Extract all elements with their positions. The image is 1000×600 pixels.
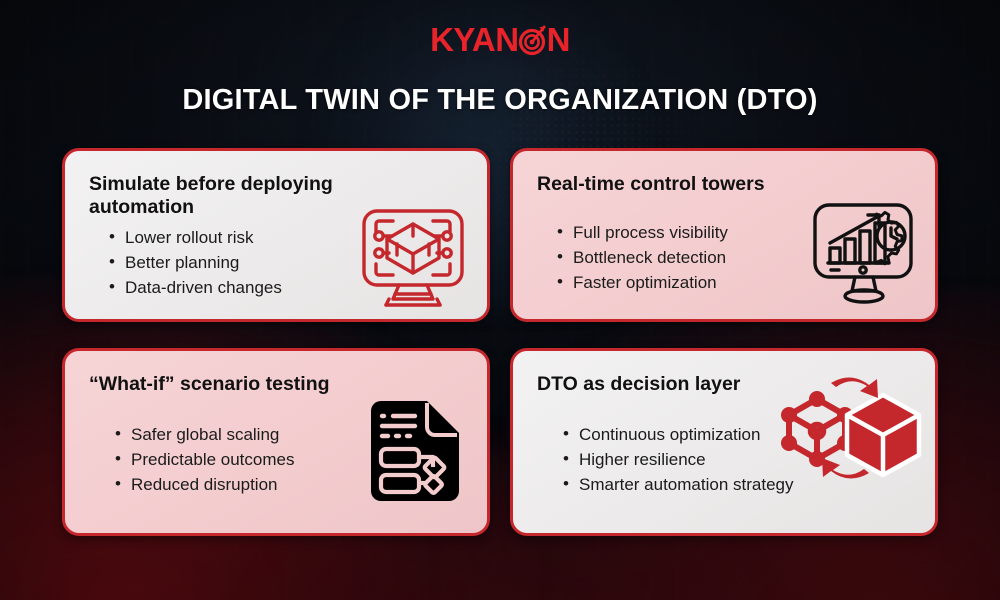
monitor-cube-network-icon xyxy=(359,206,467,315)
cards-grid: Simulate before deploying automation Low… xyxy=(62,148,938,536)
card-what-if-scenario-testing[interactable]: “What-if” scenario testing Safer global … xyxy=(62,348,490,536)
logo-text-after: N xyxy=(547,23,570,56)
card-dto-as-decision-layer[interactable]: DTO as decision layer Continuous optimiz… xyxy=(510,348,938,536)
logo-text-before: KYAN xyxy=(430,23,518,56)
card-title: Real-time control towers xyxy=(537,173,837,196)
page-title: DIGITAL TWIN OF THE ORGANIZATION (DTO) xyxy=(0,84,1000,117)
cube-network-cycle-icon xyxy=(773,373,925,490)
card-simulate-before-deploying-automation[interactable]: Simulate before deploying automation Low… xyxy=(62,148,490,322)
card-title: Simulate before deploying automation xyxy=(89,173,359,219)
card-real-time-control-towers[interactable]: Real-time control towers Full process vi… xyxy=(510,148,938,322)
brand-logo: KYAN N xyxy=(0,22,1000,56)
monitor-chart-gear-clock-icon xyxy=(811,201,917,312)
target-bullseye-icon xyxy=(518,22,548,56)
document-flowchart-icon xyxy=(365,399,465,508)
card-title: “What-if” scenario testing xyxy=(89,373,389,396)
